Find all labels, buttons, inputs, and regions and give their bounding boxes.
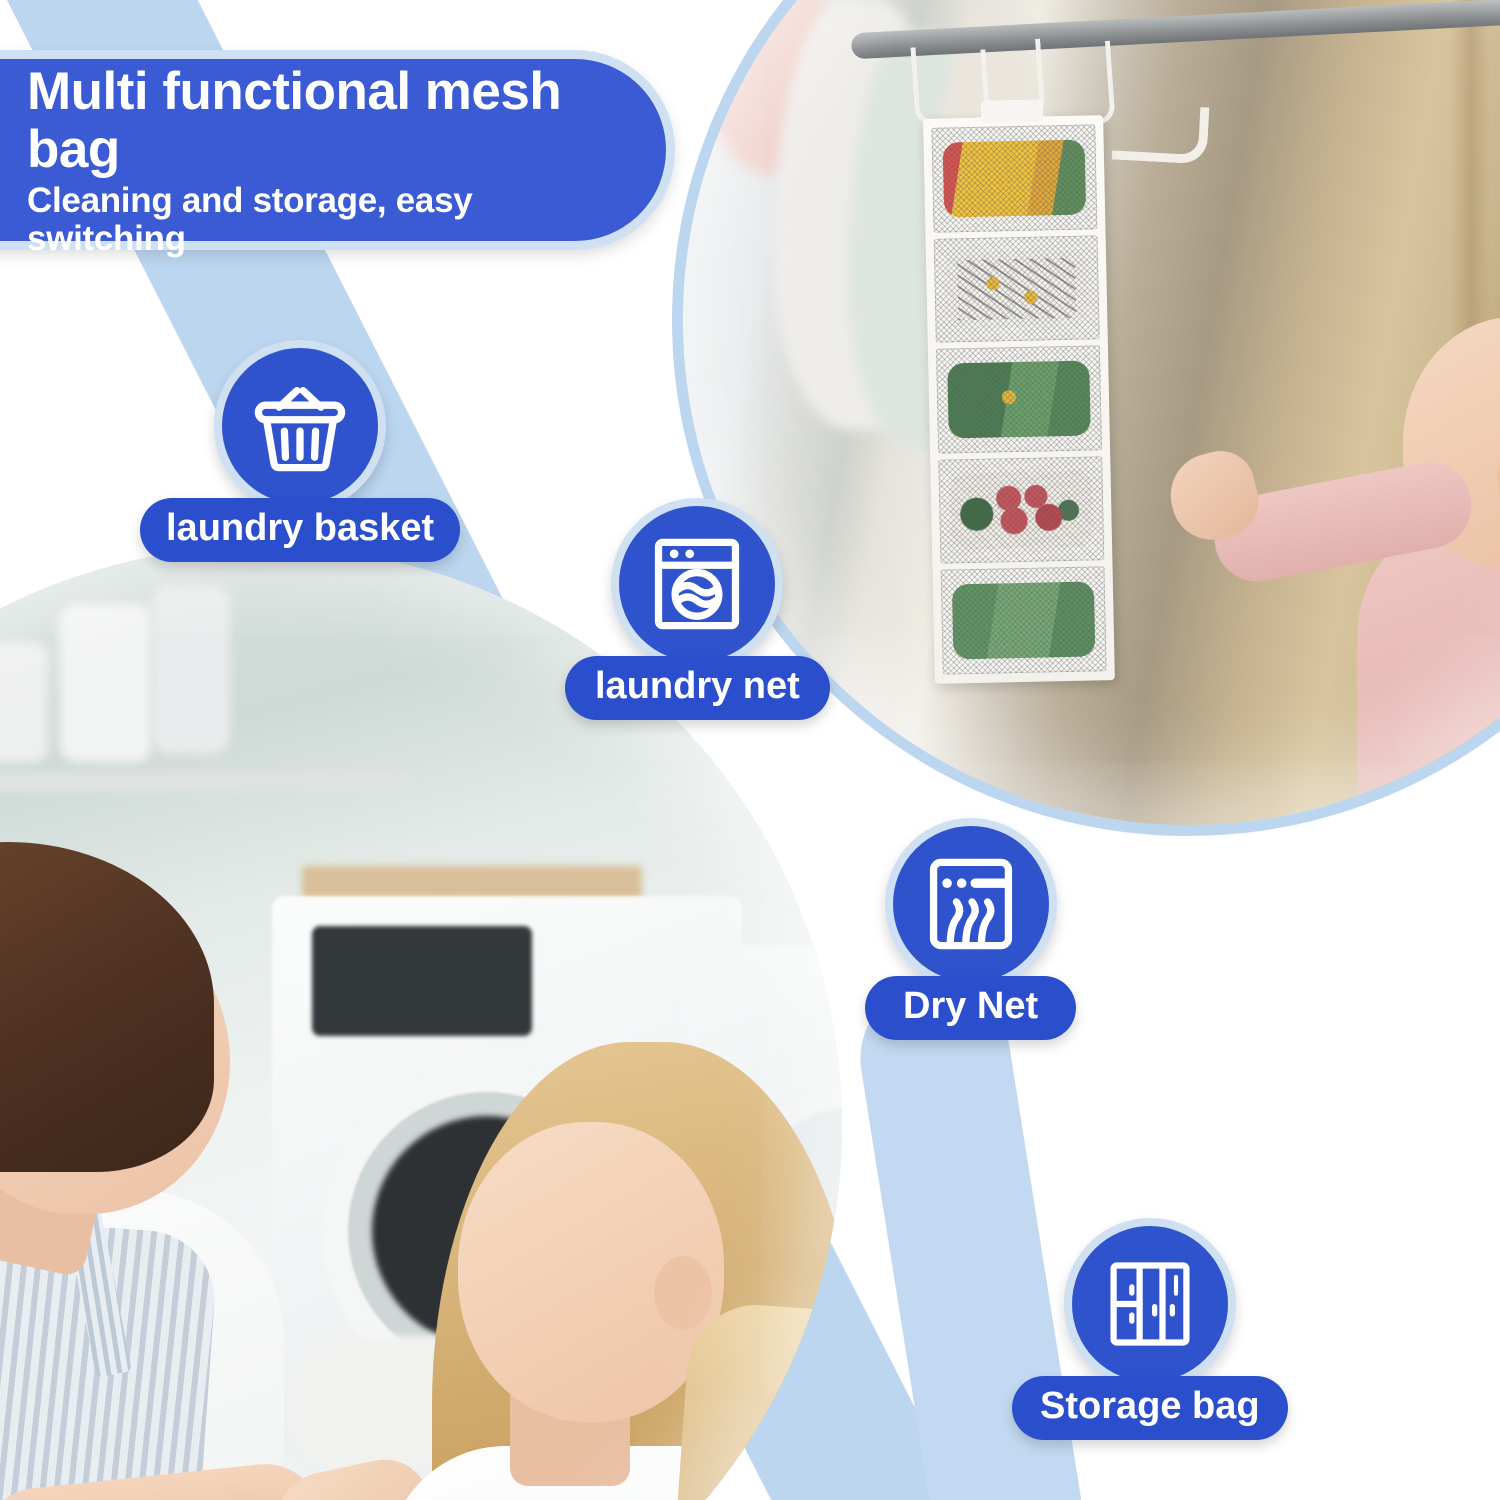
laundry-basket-badge[interactable]	[214, 340, 386, 512]
feature-laundry-basket[interactable]: laundry basket	[140, 340, 460, 562]
organizer-hang-tab	[981, 99, 1043, 122]
feature-storage-bag[interactable]: Storage bag	[1012, 1218, 1288, 1440]
feature-label-dry[interactable]: Dry Net	[865, 976, 1076, 1040]
infographic-canvas: Multi functional mesh bag Cleaning and s…	[0, 0, 1500, 1500]
mother-hair	[0, 842, 214, 1172]
mesh-texture	[936, 345, 1102, 453]
wardrobe-locker-icon	[1098, 1252, 1202, 1356]
laundry-basket-icon	[248, 374, 352, 478]
page-title: Multi functional mesh bag	[27, 63, 606, 177]
girl-ear	[654, 1256, 712, 1330]
organizer-pocket-2	[934, 235, 1100, 343]
mesh-texture	[934, 235, 1100, 343]
laundry-net-badge[interactable]	[611, 498, 783, 670]
organizer-pocket-5	[941, 567, 1107, 675]
feature-label-net[interactable]: laundry net	[565, 656, 830, 720]
mesh-texture	[931, 124, 1097, 232]
storage-bag-badge[interactable]	[1064, 1218, 1236, 1390]
girl-figure	[282, 1006, 842, 1500]
washing-machine-icon	[645, 532, 749, 636]
mesh-texture	[938, 456, 1104, 564]
feature-label-storage[interactable]: Storage bag	[1012, 1376, 1288, 1440]
organizer-pocket-1	[931, 124, 1097, 232]
dryer-icon	[919, 852, 1023, 956]
title-card: Multi functional mesh bag Cleaning and s…	[0, 50, 675, 250]
toddler-figure	[1283, 245, 1500, 836]
dry-net-badge[interactable]	[885, 818, 1057, 990]
feature-laundry-net[interactable]: laundry net	[565, 498, 830, 720]
clothes-hanger-side	[1112, 103, 1210, 165]
page-subtitle: Cleaning and storage, easy switching	[27, 182, 606, 259]
organizer-pocket-4	[938, 456, 1104, 564]
organizer-pocket-3	[936, 345, 1102, 453]
hanging-mesh-organizer	[923, 115, 1115, 684]
mesh-texture	[941, 567, 1107, 675]
feature-label-basket[interactable]: laundry basket	[140, 498, 460, 562]
feature-dry-net[interactable]: Dry Net	[865, 818, 1076, 1040]
